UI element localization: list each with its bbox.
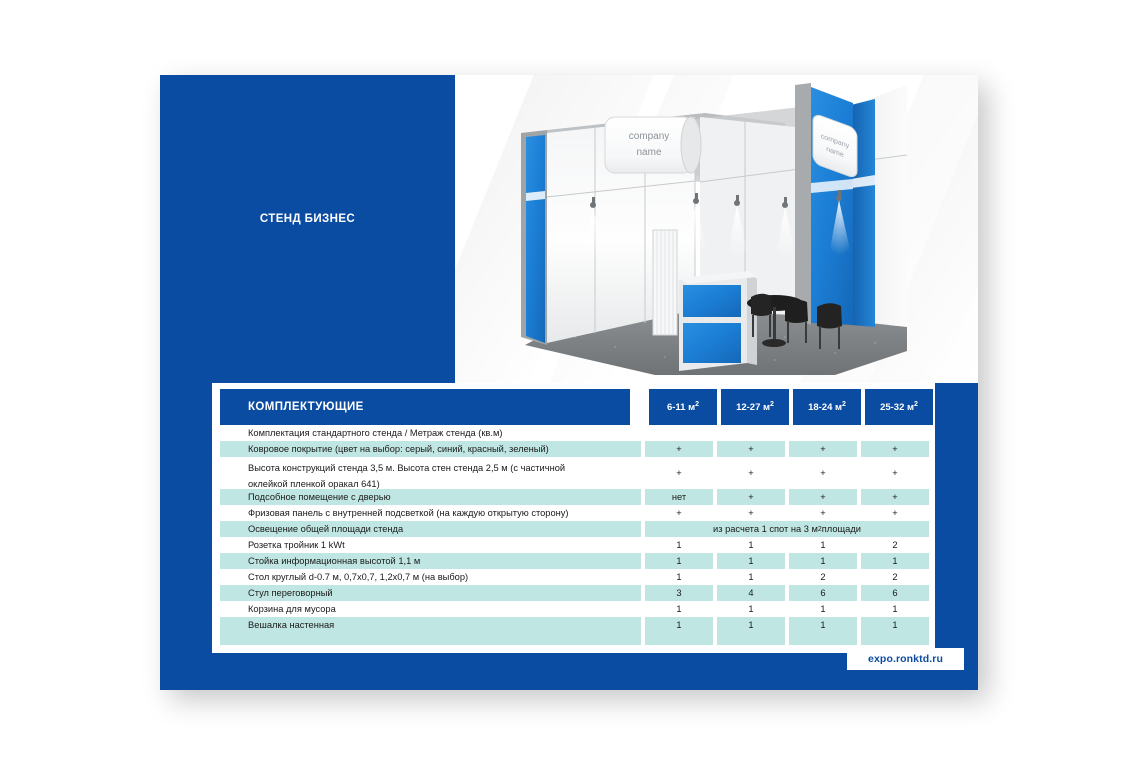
table-row: Освещение общей площади стендаиз расчета… — [220, 521, 927, 537]
table-bottom-strip-col-2 — [789, 633, 857, 645]
row-value-col-1: 1 — [717, 553, 785, 569]
table-row: Стойка информационная высотой 1,1 м1111 — [220, 553, 927, 569]
column-header-2-text: 18-24 м2 — [808, 401, 846, 413]
row-value-col-1: 1 — [717, 537, 785, 553]
row-value-col-3: + — [861, 457, 929, 489]
row-value-col-2: 2 — [789, 569, 857, 585]
row-value-col-0: 1 — [645, 601, 713, 617]
row-label: Корзина для мусора — [220, 601, 641, 617]
booth-render-image: company name company name — [455, 75, 978, 383]
row-value-col-2 — [789, 425, 857, 441]
row-value-col-0: + — [645, 457, 713, 489]
row-value-col-3: 1 — [861, 601, 929, 617]
row-value-col-3: + — [861, 441, 929, 457]
table-row: Вешалка настенная1111 — [220, 617, 927, 633]
row-label: Розетка тройник 1 kWt — [220, 537, 641, 553]
row-value-col-1: 1 — [717, 569, 785, 585]
row-label: Стойка информационная высотой 1,1 м — [220, 553, 641, 569]
table-row: Высота конструкций стенда 3,5 м. Высота … — [220, 457, 927, 489]
row-value-col-1: + — [717, 489, 785, 505]
row-value-col-3: 1 — [861, 553, 929, 569]
booth-sign-line2: name — [636, 147, 661, 158]
row-label: Комплектация стандартного стенда / Метра… — [220, 425, 641, 441]
row-label: Подсобное помещение с дверью — [220, 489, 641, 505]
column-header-1: 12-27 м2 — [721, 389, 789, 425]
row-value-col-1: 1 — [717, 601, 785, 617]
column-header-2: 18-24 м2 — [793, 389, 861, 425]
table-row: Розетка тройник 1 kWt1112 — [220, 537, 927, 553]
table-body: Комплектация стандартного стенда / Метра… — [220, 425, 927, 645]
exhibition-booth-illustration: company name company name — [455, 75, 978, 383]
table-bottom-strip — [220, 633, 927, 645]
row-value-col-1: 4 — [717, 585, 785, 601]
row-value-col-0: нет — [645, 489, 713, 505]
column-header-0: 6-11 м2 — [649, 389, 717, 425]
site-url-badge[interactable]: expo.ronktd.ru — [847, 648, 964, 670]
row-value-col-0: 1 — [645, 617, 713, 633]
row-label: Стул переговорный — [220, 585, 641, 601]
booth-sign-line1: company — [629, 131, 670, 142]
table-bottom-strip-label — [220, 633, 641, 645]
slide-top-area: СТЕНД БИЗНЕС — [160, 75, 978, 383]
row-value-col-2: + — [789, 505, 857, 521]
table-bottom-strip-col-3 — [861, 633, 929, 645]
row-value-col-0: + — [645, 441, 713, 457]
row-value-col-1 — [717, 425, 785, 441]
components-table: КОМПЛЕКТУЮЩИЕ 6-11 м2 12-27 м2 18-24 м2 … — [212, 383, 935, 653]
row-value-col-2: + — [789, 457, 857, 489]
row-label: Высота конструкций стенда 3,5 м. Высота … — [220, 457, 641, 489]
row-value-col-3: + — [861, 505, 929, 521]
column-header-3: 25-32 м2 — [865, 389, 933, 425]
table-row: Стол круглый d-0.7 м, 0,7х0,7, 1,2х0,7 м… — [220, 569, 927, 585]
row-value-col-0: 3 — [645, 585, 713, 601]
row-value-col-0: 1 — [645, 553, 713, 569]
row-value-col-2: 1 — [789, 553, 857, 569]
row-label: Ковровое покрытие (цвет на выбор: серый,… — [220, 441, 641, 457]
row-value-col-0: 1 — [645, 569, 713, 585]
row-label: Освещение общей площади стенда — [220, 521, 641, 537]
row-value-col-3: 2 — [861, 537, 929, 553]
table-row: Корзина для мусора1111 — [220, 601, 927, 617]
row-value-col-1: 1 — [717, 617, 785, 633]
row-value-col-1: + — [717, 505, 785, 521]
row-value-col-3: 2 — [861, 569, 929, 585]
table-row: Фризовая панель с внутренней подсветкой … — [220, 505, 927, 521]
row-value-col-2: + — [789, 441, 857, 457]
row-value-col-0: + — [645, 505, 713, 521]
table-bottom-strip-col-0 — [645, 633, 713, 645]
row-value-col-2: 6 — [789, 585, 857, 601]
row-value-col-3 — [861, 425, 929, 441]
table-bottom-strip-col-1 — [717, 633, 785, 645]
row-value-col-2: 1 — [789, 537, 857, 553]
column-header-1-text: 12-27 м2 — [736, 401, 774, 413]
table-row: Подсобное помещение с дверьюнет+++ — [220, 489, 927, 505]
table-row: Ковровое покрытие (цвет на выбор: серый,… — [220, 441, 927, 457]
row-value-col-2: 1 — [789, 601, 857, 617]
column-header-0-text: 6-11 м2 — [667, 401, 699, 413]
row-label: Стол круглый d-0.7 м, 0,7х0,7, 1,2х0,7 м… — [220, 569, 641, 585]
table-row: Комплектация стандартного стенда / Метра… — [220, 425, 927, 441]
row-value-col-3: + — [861, 489, 929, 505]
column-header-3-text: 25-32 м2 — [880, 401, 918, 413]
row-value-col-0: 1 — [645, 537, 713, 553]
row-label: Фризовая панель с внутренней подсветкой … — [220, 505, 641, 521]
slide-canvas: СТЕНД БИЗНЕС — [160, 75, 978, 690]
header-spacer — [634, 389, 645, 425]
row-value-col-1: + — [717, 457, 785, 489]
row-label: Вешалка настенная — [220, 617, 641, 633]
table-row: Стул переговорный3466 — [220, 585, 927, 601]
row-value-col-2: 1 — [789, 617, 857, 633]
row-value-col-1: + — [717, 441, 785, 457]
table-header-row: КОМПЛЕКТУЮЩИЕ 6-11 м2 12-27 м2 18-24 м2 … — [220, 389, 927, 425]
page-title: СТЕНД БИЗНЕС — [160, 213, 455, 225]
table-header-title: КОМПЛЕКТУЮЩИЕ — [220, 389, 630, 425]
left-title-panel: СТЕНД БИЗНЕС — [160, 75, 455, 383]
row-value-col-3: 1 — [861, 617, 929, 633]
row-value-col-2: + — [789, 489, 857, 505]
row-merged-value: из расчета 1 спот на 3 м2 площади — [645, 521, 929, 537]
row-value-col-3: 6 — [861, 585, 929, 601]
row-value-col-0 — [645, 425, 713, 441]
row-label-line1: Высота конструкций стенда 3,5 м. Высота … — [248, 460, 641, 476]
